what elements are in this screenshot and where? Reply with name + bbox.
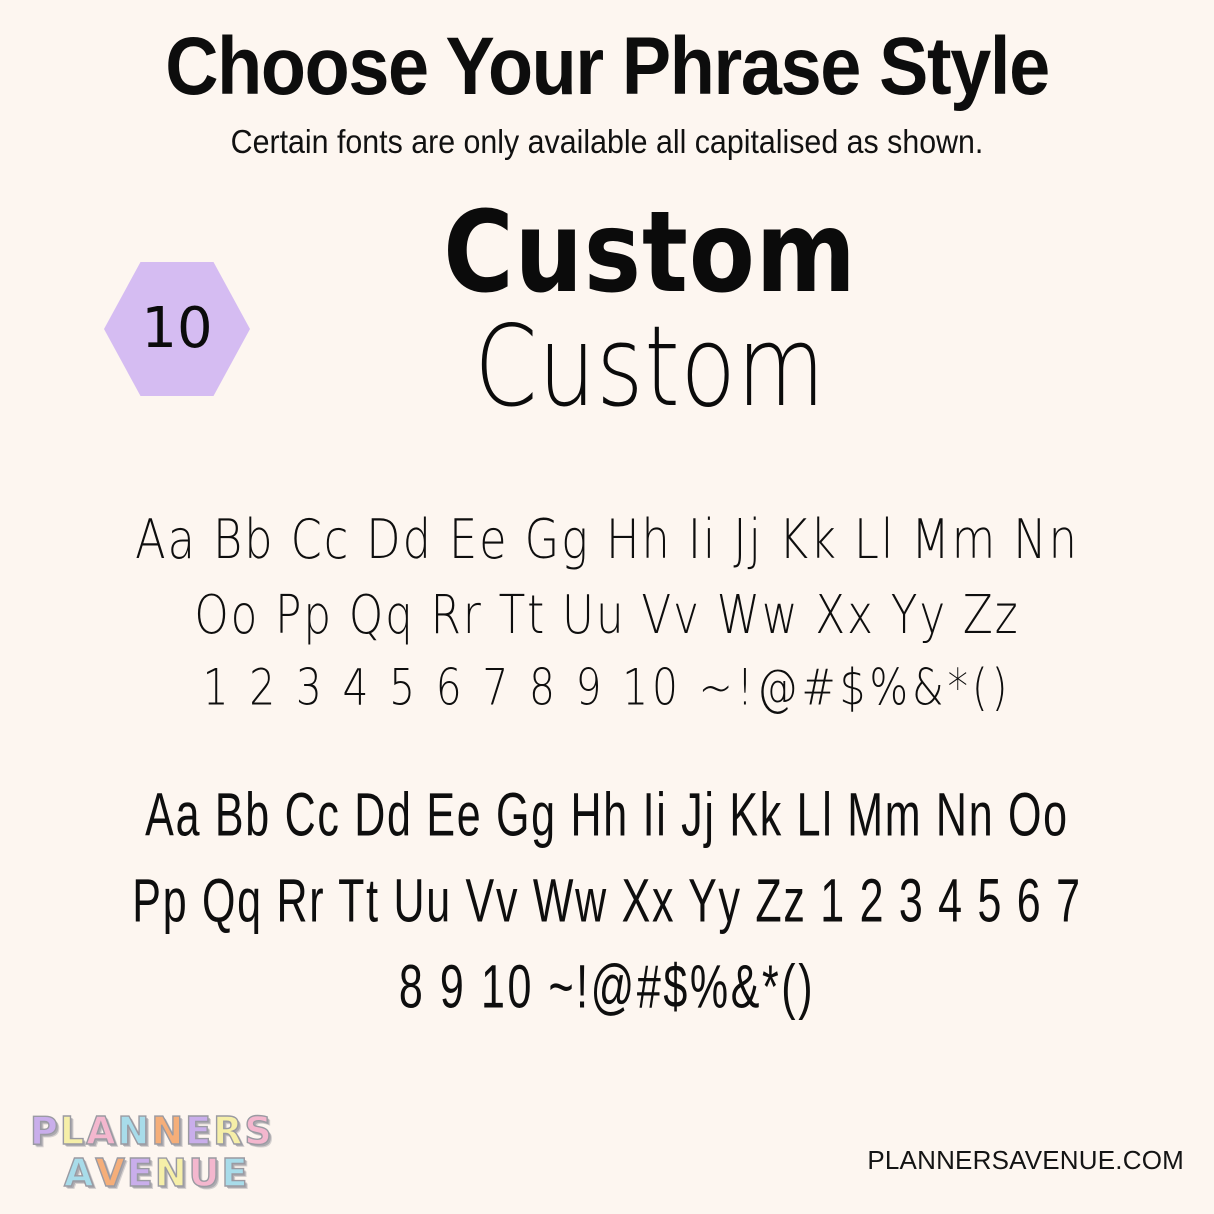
specimen-2-letters-row-1: Aa Bb Cc Dd Ee Gg Hh Ii Jj Kk Ll Mm Nn O… — [85, 785, 1129, 846]
sample-word-font-1: Custom — [314, 199, 986, 305]
logo-letter: N — [151, 1112, 183, 1150]
logo-letter: A — [86, 1112, 115, 1150]
specimen-1-letters-row-2: Oo Pp Qq Rr Tt Uu Vv Ww Xx Yy Zz — [18, 588, 1196, 641]
style-number-label: 10 — [141, 301, 212, 357]
logo-letter: N — [155, 1154, 187, 1192]
planners-avenue-logo: PLANNERS AVENUE — [30, 1112, 330, 1192]
specimen-font-2: Aa Bb Cc Dd Ee Gg Hh Ii Jj Kk Ll Mm Nn O… — [0, 790, 1214, 1012]
logo-letter: U — [189, 1154, 220, 1192]
specimen-font-1: Aa Bb Cc Dd Ee Gg Hh Ii Jj Kk Ll Mm Nn O… — [0, 516, 1214, 709]
logo-letter: E — [127, 1154, 153, 1192]
specimen-1-letters-row-1: Aa Bb Cc Dd Ee Gg Hh Ii Jj Kk Ll Mm Nn — [18, 512, 1196, 566]
sample-words: Custom Custom — [300, 205, 1000, 413]
logo-letter: P — [30, 1112, 58, 1150]
phrase-style-poster: Choose Your Phrase Style Certain fonts a… — [0, 0, 1214, 1214]
website-url: PLANNERSAVENUE.COM — [867, 1145, 1184, 1176]
logo-letter: R — [213, 1112, 242, 1150]
sample-word-font-2: Custom — [321, 315, 979, 421]
logo-letter: S — [244, 1112, 271, 1150]
specimen-2-digits-row: 8 9 10 ~!@#$%&*() — [85, 957, 1129, 1018]
header: Choose Your Phrase Style Certain fonts a… — [0, 26, 1214, 160]
logo-letter: E — [221, 1154, 247, 1192]
logo-letter: A — [64, 1154, 93, 1192]
specimen-1-digits-row: 1 2 3 4 5 6 7 8 9 10 ~!@#$%&*() — [18, 663, 1196, 713]
page-subtitle: Certain fonts are only available all cap… — [49, 124, 1166, 160]
logo-letter: L — [60, 1112, 84, 1150]
page-title: Choose Your Phrase Style — [61, 26, 1154, 108]
logo-line-avenue: AVENUE — [30, 1154, 330, 1192]
logo-letter: E — [185, 1112, 211, 1150]
logo-line-planners: PLANNERS — [30, 1112, 330, 1150]
logo-letter: N — [118, 1112, 150, 1150]
specimen-2-letters-row-2: Pp Qq Rr Tt Uu Vv Ww Xx Yy Zz 1 2 3 4 5 … — [85, 871, 1129, 932]
logo-letter: V — [95, 1154, 124, 1192]
